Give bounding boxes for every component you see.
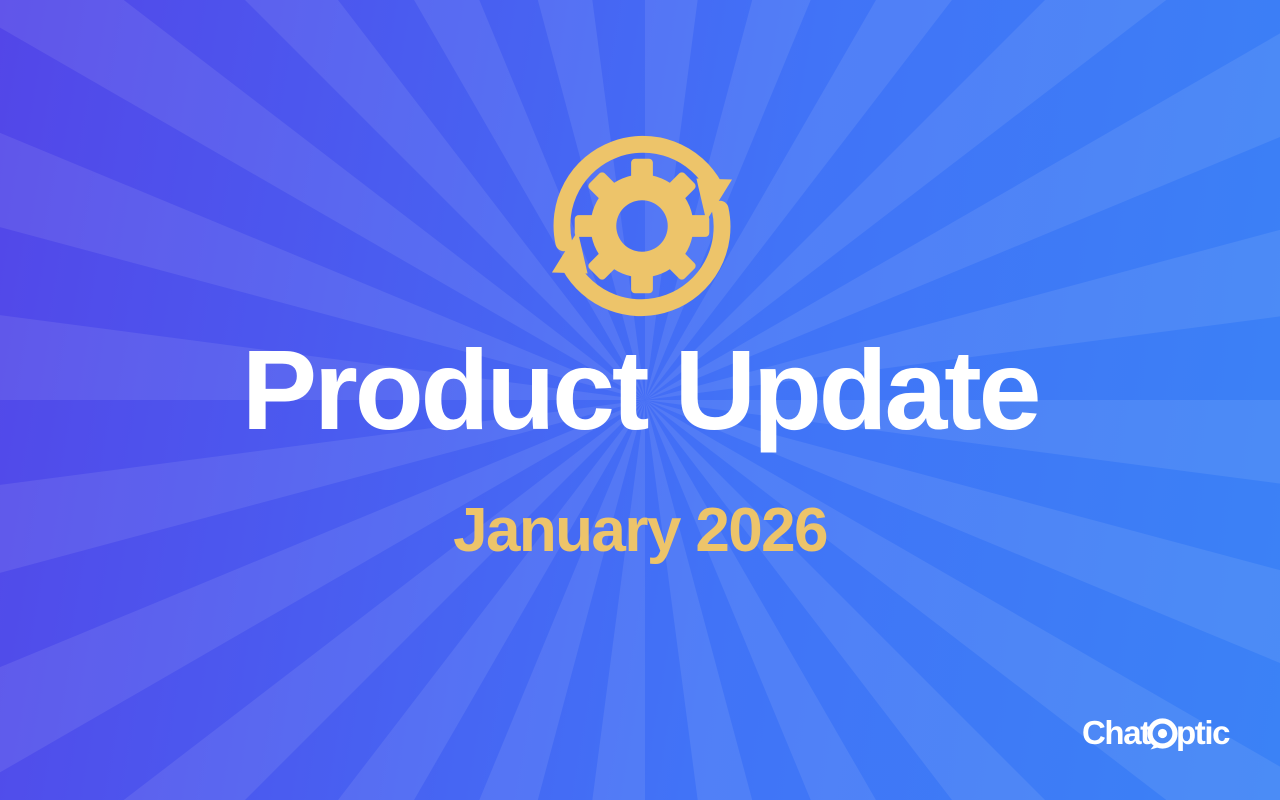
brand-logo: Chat ptic	[1082, 714, 1250, 754]
brand-word-two: ptic	[1176, 714, 1230, 751]
speech-bubble-o-icon	[1150, 721, 1175, 750]
brand-word-one: Chat	[1082, 714, 1151, 751]
product-update-banner: Product Update January 2026 Chat ptic	[0, 0, 1280, 800]
page-subtitle: January 2026	[0, 500, 1280, 562]
banner-content: Product Update January 2026	[0, 0, 1280, 800]
chatoptic-wordmark: Chat ptic	[1082, 714, 1250, 754]
page-title: Product Update	[0, 334, 1280, 447]
gear-refresh-icon	[548, 131, 736, 321]
